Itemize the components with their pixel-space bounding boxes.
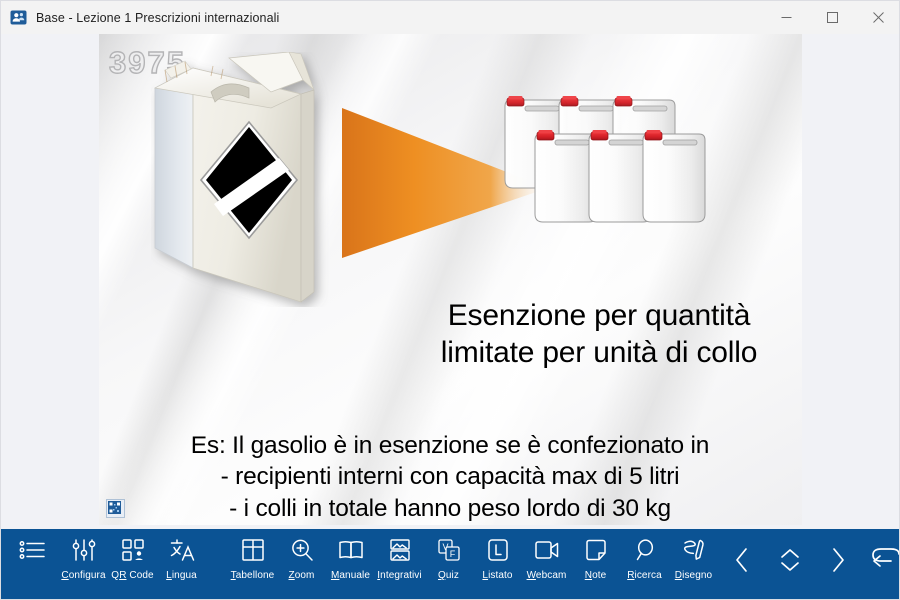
- grid-table-icon: [241, 535, 265, 565]
- slide-example-text: Es: Il gasolio è in esenzione se è confe…: [105, 430, 795, 524]
- toolbar-label-zoom: Zoom: [289, 570, 315, 581]
- heading-line-3: unità di collo: [593, 336, 757, 369]
- example-line-2: - recipienti interni con capacità max di…: [105, 461, 795, 492]
- toolbar-item-qr-code[interactable]: QR Code: [108, 529, 157, 600]
- pen-draw-icon: [681, 535, 707, 565]
- toolbar-label-qr-code: QR Code: [111, 570, 153, 581]
- toolbar-item-lingua[interactable]: Lingua: [157, 529, 206, 600]
- nav-expand-button[interactable]: [766, 529, 814, 600]
- mnemonic-configura: C: [61, 570, 68, 581]
- toolbar-label-note: Note: [585, 570, 607, 581]
- toolbar-label-disegno: Disegno: [675, 570, 712, 581]
- images-stack-icon: [388, 535, 412, 565]
- mnemonic-qr-code: R: [119, 570, 126, 581]
- example-line-3: - i colli in totale hanno peso lordo di …: [105, 493, 795, 524]
- slide-heading: Esenzione per quantità limitate per unit…: [404, 298, 794, 372]
- application-window: Base - Lezione 1 Prescrizioni internazio…: [0, 0, 900, 600]
- toolbar-label-configura: Configura: [61, 570, 105, 581]
- chevron-left-icon: [731, 546, 753, 579]
- nav-back-button[interactable]: [862, 529, 900, 600]
- heading-line-1: Esenzione per: [448, 299, 637, 332]
- chevron-up-down-icon: [777, 546, 803, 579]
- example-line-1: Es: Il gasolio è in esenzione se è confe…: [105, 430, 795, 461]
- qr-code-icon: [121, 535, 145, 565]
- letter-l-box-icon: [486, 535, 510, 565]
- toolbar-label-integrativi: Integrativi: [377, 570, 421, 581]
- bottom-toolbar: Configura QR Code: [1, 529, 899, 599]
- mnemonic-ricerca: R: [627, 570, 634, 581]
- sliders-icon: [71, 535, 97, 565]
- nav-previous-button[interactable]: [718, 529, 766, 600]
- window-title: Base - Lezione 1 Prescrizioni internazio…: [36, 11, 279, 25]
- toolbar-item-listato[interactable]: Listato: [473, 529, 522, 600]
- toolbar-item-zoom[interactable]: Zoom: [277, 529, 326, 600]
- return-arrow-icon: [871, 546, 900, 579]
- jerrycans-group: [491, 94, 741, 254]
- toolbar-item-quiz[interactable]: V F Quiz: [424, 529, 473, 600]
- close-icon[interactable]: [855, 1, 900, 34]
- note-page-icon: [584, 535, 608, 565]
- toolbar-label-tabellone: Tabellone: [231, 570, 275, 581]
- mnemonic-webcam: W: [527, 570, 536, 581]
- open-book-icon: [338, 535, 364, 565]
- toolbar-label-ricerca: Ricerca: [627, 570, 662, 581]
- toolbar-item-configura[interactable]: Configura: [59, 529, 108, 600]
- chevron-right-icon: [827, 546, 849, 579]
- toolbar-label-listato: Listato: [482, 570, 512, 581]
- toolbar-label-webcam: Webcam: [527, 570, 567, 581]
- maximize-icon[interactable]: [809, 1, 855, 34]
- mnemonic-note: N: [585, 570, 592, 581]
- svg-text:F: F: [449, 549, 455, 559]
- toolbar-label-quiz: Quiz: [438, 570, 459, 581]
- toolbar-item-ricerca[interactable]: Ricerca: [620, 529, 669, 600]
- slide-stage: 3975: [1, 34, 899, 530]
- toolbar-item-tabellone[interactable]: Tabellone: [228, 529, 277, 600]
- toolbar-item-disegno[interactable]: Disegno: [669, 529, 718, 600]
- video-camera-icon: [534, 535, 560, 565]
- toolbar-item-manuale[interactable]: Manuale: [326, 529, 375, 600]
- bulleted-list-icon: [19, 535, 47, 565]
- zoom-in-icon: [290, 535, 314, 565]
- toolbar-item-webcam[interactable]: Webcam: [522, 529, 571, 600]
- media-thumbnail-icon[interactable]: [106, 499, 125, 518]
- cardboard-box-graphic: [151, 52, 381, 307]
- translate-icon: [169, 535, 195, 565]
- nav-next-button[interactable]: [814, 529, 862, 600]
- title-bar[interactable]: Base - Lezione 1 Prescrizioni internazio…: [1, 1, 900, 35]
- toolbar-item-indice[interactable]: [7, 529, 59, 600]
- toolbar-label-lingua: Lingua: [166, 570, 197, 581]
- toolbar-item-integrativi[interactable]: Integrativi: [375, 529, 424, 600]
- window-controls: [763, 1, 900, 34]
- people-icon: [10, 9, 27, 26]
- toolbar-item-note[interactable]: Note: [571, 529, 620, 600]
- toolbar-label-manuale: Manuale: [331, 570, 370, 581]
- mnemonic-quiz: Q: [438, 570, 446, 581]
- slide-canvas[interactable]: 3975: [99, 34, 802, 525]
- minimize-icon[interactable]: [763, 1, 809, 34]
- true-false-card-icon: V F: [437, 535, 461, 565]
- magnifier-icon: [633, 535, 657, 565]
